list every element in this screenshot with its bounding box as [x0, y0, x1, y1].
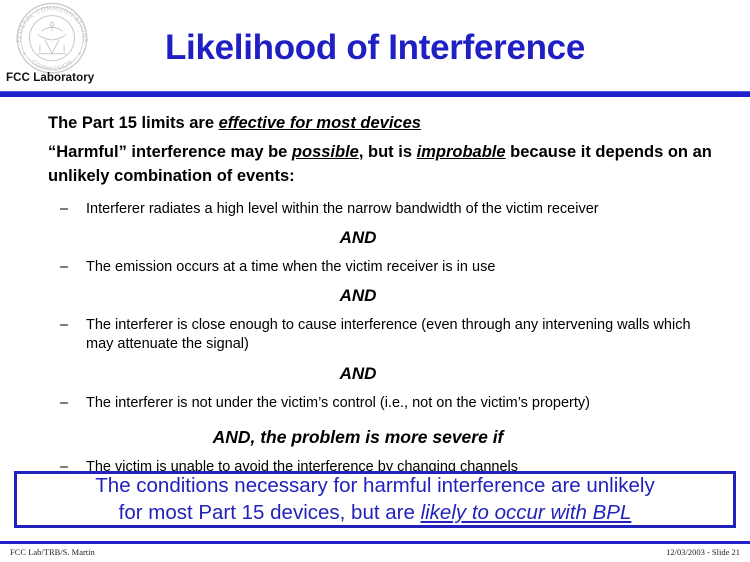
dash-bullet-icon: –	[60, 316, 68, 335]
list-item-text: Interferer radiates a high level within …	[86, 201, 599, 217]
conclusion-line-2-plain: for most Part 15 devices, but are	[119, 501, 421, 524]
list-item: – The interferer is not under the victim…	[60, 394, 714, 413]
lab-name-label: FCC Laboratory	[6, 72, 94, 84]
list-item-text: The interferer is close enough to cause …	[86, 317, 691, 352]
lead-line-1: The Part 15 limits are effective for mos…	[48, 112, 714, 136]
dash-bullet-icon: –	[60, 258, 68, 277]
lead-paragraph: The Part 15 limits are effective for mos…	[48, 112, 714, 189]
lead-line-1-plain: The Part 15 limits are	[48, 114, 219, 132]
conditions-list: – Interferer radiates a high level withi…	[60, 200, 714, 479]
footer-divider	[0, 541, 750, 544]
lead-line-2: “Harmful” interference may be possible, …	[48, 141, 714, 189]
footer-author: FCC Lab/TRB/S. Martin	[10, 547, 95, 557]
lead-line-2-part-b: , but is	[359, 143, 417, 161]
conclusion-line-2-emphasis: likely to occur with BPL	[421, 501, 632, 524]
lead-line-2-part-a: “Harmful” interference may be	[48, 143, 292, 161]
conjunction-and-2: AND	[60, 286, 714, 306]
list-item: – The interferer is close enough to caus…	[60, 316, 714, 354]
conclusion-box: The conditions necessary for harmful int…	[14, 471, 736, 528]
header-divider	[0, 91, 750, 97]
footer-date-slide: 12/03/2003 - Slide 21	[666, 547, 740, 557]
list-item-text: The interferer is not under the victim’s…	[86, 395, 590, 411]
slide: FEDERAL COMMUNICATIONS COMMISSION FCC La…	[0, 0, 750, 562]
conclusion-line-1: The conditions necessary for harmful int…	[95, 473, 654, 500]
lead-line-2-emphasis-1: possible	[292, 143, 359, 161]
dash-bullet-icon: –	[60, 200, 68, 219]
lead-line-2-emphasis-2: improbable	[417, 143, 506, 161]
conjunction-and-severe: AND, the problem is more severe if	[60, 427, 714, 448]
conclusion-box-inner: The conditions necessary for harmful int…	[15, 472, 735, 527]
conjunction-and-1: AND	[60, 228, 714, 248]
conjunction-and-3: AND	[60, 364, 714, 384]
list-item: – The emission occurs at a time when the…	[60, 258, 714, 277]
list-item: – Interferer radiates a high level withi…	[60, 200, 714, 219]
list-item-text: The emission occurs at a time when the v…	[86, 259, 495, 275]
page-title: Likelihood of Interference	[0, 28, 750, 68]
lead-line-1-emphasis: effective for most devices	[219, 114, 421, 132]
conclusion-line-2: for most Part 15 devices, but are likely…	[119, 500, 632, 527]
dash-bullet-icon: –	[60, 394, 68, 413]
